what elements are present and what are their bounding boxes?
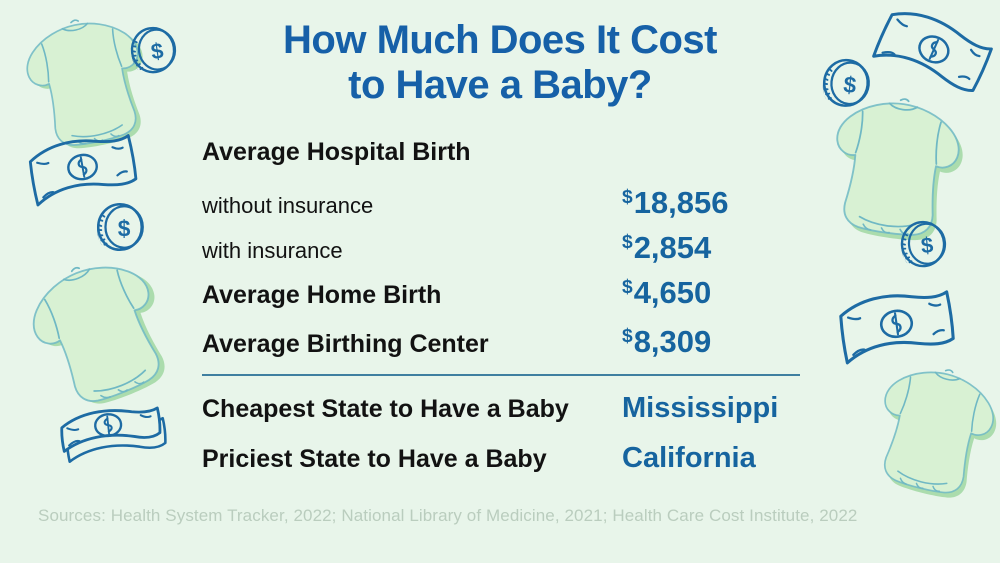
currency-symbol: $ xyxy=(622,277,633,298)
row-amount: 18,856 xyxy=(634,185,729,220)
row-label: Cheapest State to Have a Baby xyxy=(202,395,622,424)
coin-dollar-icon xyxy=(92,198,150,256)
table-row: without insurance $18,856 xyxy=(202,185,802,230)
row-label: Average Hospital Birth xyxy=(202,138,622,167)
dollar-bill-icon xyxy=(28,134,140,204)
row-label: Average Home Birth xyxy=(202,281,622,310)
page-title: How Much Does It Cost to Have a Baby? xyxy=(0,18,1000,108)
baby-onesie-icon xyxy=(32,262,172,402)
table-row: with insurance $2,854 xyxy=(202,230,802,275)
sources-footnote: Sources: Health System Tracker, 2022; Na… xyxy=(38,506,857,526)
row-value: $18,856 xyxy=(622,185,729,221)
baby-onesie-icon xyxy=(826,98,968,240)
baby-onesie-icon xyxy=(872,368,1000,496)
coin-dollar-icon xyxy=(896,216,952,272)
section-divider xyxy=(202,374,800,376)
table-row: Average Birthing Center $8,309 xyxy=(202,324,802,373)
table-row: Cheapest State to Have a Baby Mississipp… xyxy=(202,392,802,442)
title-line-2: to Have a Baby? xyxy=(0,63,1000,108)
row-amount: 8,309 xyxy=(634,324,712,359)
row-label: with insurance xyxy=(202,238,622,264)
row-value: $8,309 xyxy=(622,324,711,360)
row-value: $2,854 xyxy=(622,230,711,266)
row-label: without insurance xyxy=(202,193,622,219)
row-value: California xyxy=(622,442,756,475)
dollar-bill-icon xyxy=(838,288,958,364)
currency-symbol: $ xyxy=(622,326,633,347)
state-table: Cheapest State to Have a Baby Mississipp… xyxy=(202,392,802,492)
row-label: Average Birthing Center xyxy=(202,330,622,359)
currency-symbol: $ xyxy=(622,187,633,208)
infographic-canvas: $ xyxy=(0,0,1000,563)
currency-symbol: $ xyxy=(622,232,633,253)
row-value: $4,650 xyxy=(622,275,711,311)
row-label: Priciest State to Have a Baby xyxy=(202,445,622,474)
cost-table: Average Hospital Birth without insurance… xyxy=(202,138,802,373)
title-line-1: How Much Does It Cost xyxy=(283,18,717,62)
row-amount: 4,650 xyxy=(634,275,712,310)
table-row-hospital-heading: Average Hospital Birth xyxy=(202,138,802,185)
table-row: Priciest State to Have a Baby California xyxy=(202,442,802,492)
row-amount: 2,854 xyxy=(634,230,712,265)
table-row: Average Home Birth $4,650 xyxy=(202,275,802,324)
row-value: Mississippi xyxy=(622,392,778,425)
dollar-bill-stack-icon xyxy=(58,394,168,466)
